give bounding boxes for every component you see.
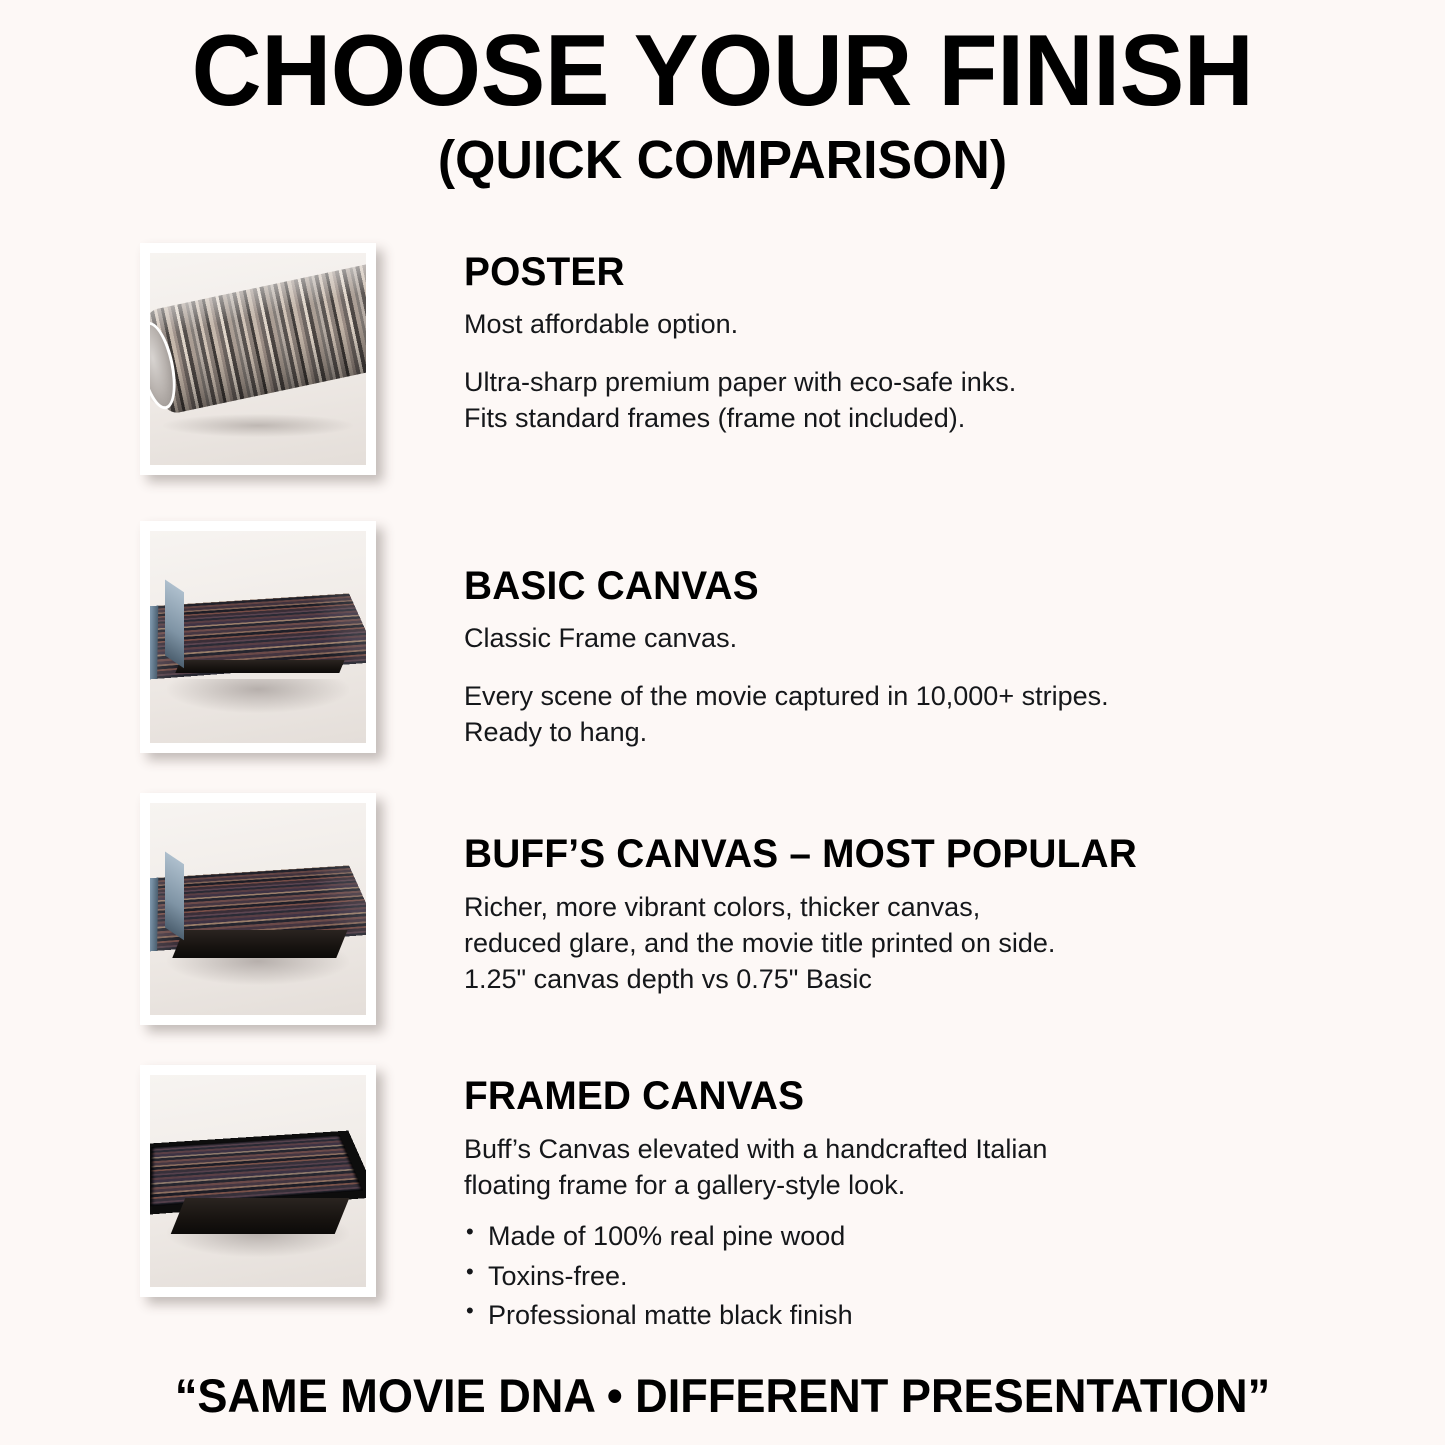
framed-canvas-render [150,1075,366,1287]
finish-row-basic-canvas: BASIC CANVAS Classic Frame canvas. Every… [0,521,1445,793]
page-title: CHOOSE YOUR FINISH [29,18,1416,125]
basic-canvas-render [150,531,366,743]
infographic-page: { "header": { "title": "CHOOSE YOUR FINI… [0,0,1445,1445]
finish-row-poster: POSTER Most affordable option. Ultra-sha… [0,243,1445,521]
basic-canvas-heading: BASIC CANVAS [464,565,1416,607]
list-item: Professional matte black finish [464,1296,1445,1335]
framed-canvas-body-line-1: Buff’s Canvas elevated with a handcrafte… [464,1131,1445,1167]
list-item: Made of 100% real pine wood [464,1217,1445,1256]
list-item: Toxins-free. [464,1257,1445,1296]
basic-canvas-lead: Classic Frame canvas. [464,621,1445,656]
basic-canvas-body-line-2: Ready to hang. [464,714,1445,750]
poster-lead: Most affordable option. [464,307,1445,342]
poster-stripes [150,261,366,416]
buffs-canvas-body-line-3: 1.25" canvas depth vs 0.75" Basic [464,961,1445,997]
comparison-rows: POSTER Most affordable option. Ultra-sha… [0,243,1445,1343]
footer-tagline: “SAME MOVIE DNA • DIFFERENT PRESENTATION… [175,1368,1270,1423]
basic-canvas-depth-edge [176,660,345,673]
poster-text-block: POSTER Most affordable option. Ultra-sha… [464,243,1445,436]
poster-body-line-2: Fits standard frames (frame not included… [464,400,1445,436]
framed-canvas-heading: FRAMED CANVAS [464,1075,1416,1117]
framed-canvas-print-face [150,1135,363,1207]
basic-canvas-body-line-1: Every scene of the movie captured in 10,… [464,678,1445,714]
buffs-canvas-text-block: BUFF’S CANVAS – MOST POPULAR Richer, mor… [464,793,1445,998]
poster-heading: POSTER [464,251,1416,293]
buffs-canvas-photo-card [140,793,376,1025]
buffs-canvas-heading: BUFF’S CANVAS – MOST POPULAR [464,833,1416,875]
finish-row-framed-canvas: FRAMED CANVAS Buff’s Canvas elevated wit… [0,1065,1445,1343]
framed-canvas-bullet-list: Made of 100% real pine wood Toxins-free.… [464,1217,1445,1335]
basic-canvas-left-edge [165,580,184,669]
finish-row-buffs-canvas: BUFF’S CANVAS – MOST POPULAR Richer, mor… [0,793,1445,1065]
buffs-canvas-render [150,803,366,1015]
buffs-canvas-depth-edge [173,930,348,958]
basic-canvas-photo [150,531,366,743]
buffs-canvas-body-line-2: reduced glare, and the movie title print… [464,925,1445,961]
framed-canvas-photo [150,1075,366,1287]
buffs-canvas-left-edge [165,852,184,941]
poster-photo-card [140,243,376,475]
poster-body-line-1: Ultra-sharp premium paper with eco-safe … [464,364,1445,400]
poster-tube [150,263,366,420]
buffs-canvas-photo [150,803,366,1015]
page-subtitle: (QUICK COMPARISON) [29,131,1416,190]
framed-canvas-depth-edge [171,1198,350,1234]
framed-canvas-text-block: FRAMED CANVAS Buff’s Canvas elevated wit… [464,1065,1445,1336]
basic-canvas-shadow [167,679,348,713]
page-header: CHOOSE YOUR FINISH (QUICK COMPARISON) [0,0,1445,190]
basic-canvas-text-block: BASIC CANVAS Classic Frame canvas. Every… [464,521,1445,750]
framed-canvas-body-line-2: floating frame for a gallery-style look. [464,1167,1445,1203]
poster-shadow [163,414,353,437]
framed-canvas-photo-card [140,1065,376,1297]
page-footer: “SAME MOVIE DNA • DIFFERENT PRESENTATION… [0,1368,1445,1423]
basic-canvas-photo-card [140,521,376,753]
buffs-canvas-body-line-1: Richer, more vibrant colors, thicker can… [464,889,1445,925]
rolled-poster-photo [150,253,366,465]
